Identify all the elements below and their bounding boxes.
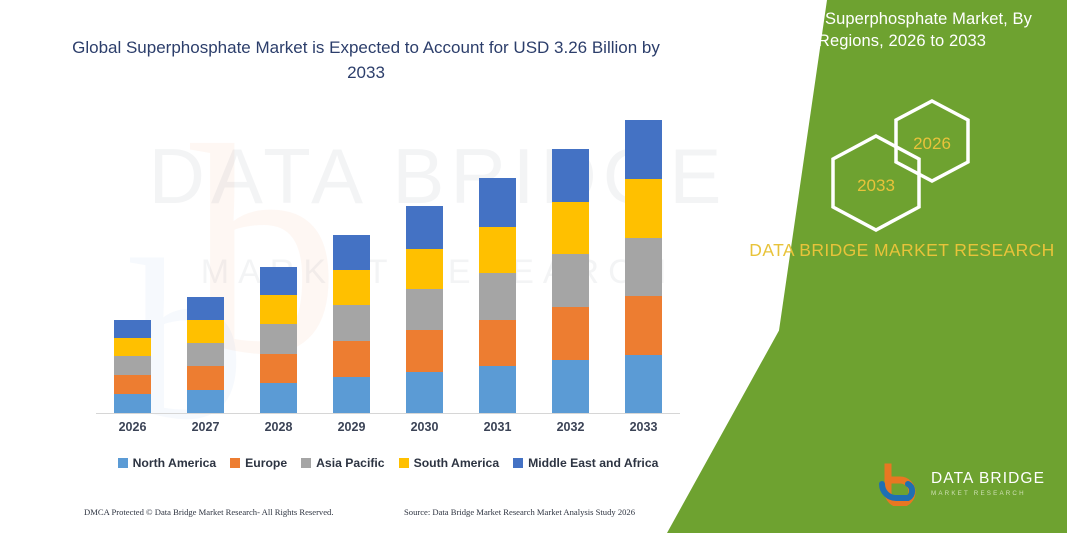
bar-slot — [461, 120, 534, 413]
bar-segment[interactable] — [114, 338, 151, 356]
legend-item[interactable]: Europe — [230, 456, 287, 470]
x-axis-tick: 2028 — [242, 420, 315, 434]
bar-slot — [607, 120, 680, 413]
footer-source: Source: Data Bridge Market Research Mark… — [404, 507, 684, 517]
footer: DMCA Protected © Data Bridge Market Rese… — [84, 507, 684, 517]
bar-segment[interactable] — [625, 238, 662, 296]
legend-swatch-icon — [301, 458, 311, 468]
bar-segment[interactable] — [260, 383, 297, 413]
bar-segment[interactable] — [187, 390, 224, 413]
stacked-bar[interactable] — [625, 120, 662, 413]
legend-swatch-icon — [118, 458, 128, 468]
bar-segment[interactable] — [479, 273, 516, 320]
bar-segment[interactable] — [552, 149, 589, 202]
bar-segment[interactable] — [187, 320, 224, 342]
x-axis-tick: 2027 — [169, 420, 242, 434]
bar-segment[interactable] — [260, 295, 297, 324]
legend-swatch-icon — [230, 458, 240, 468]
bar-segment[interactable] — [333, 377, 370, 413]
data-bridge-logo-icon — [878, 462, 922, 506]
bar-segment[interactable] — [479, 178, 516, 227]
stacked-bar[interactable] — [479, 178, 516, 413]
bar-segment[interactable] — [625, 179, 662, 237]
x-axis-tick: 2031 — [461, 420, 534, 434]
bar-segment[interactable] — [552, 202, 589, 254]
bar-segment[interactable] — [260, 324, 297, 354]
bar-segment[interactable] — [333, 341, 370, 377]
legend-label: South America — [414, 456, 500, 470]
page-title: Global Superphosphate Market is Expected… — [52, 36, 680, 85]
x-axis-tick: 2030 — [388, 420, 461, 434]
footer-copyright: DMCA Protected © Data Bridge Market Rese… — [84, 507, 404, 517]
bar-segment[interactable] — [406, 372, 443, 413]
x-axis-tick: 2033 — [607, 420, 680, 434]
stacked-bar[interactable] — [333, 235, 370, 413]
bar-segment[interactable] — [406, 206, 443, 248]
bar-segment[interactable] — [552, 360, 589, 413]
hexagon-start-year: 2026 — [893, 98, 971, 189]
legend-item[interactable]: Middle East and Africa — [513, 456, 658, 470]
legend-swatch-icon — [513, 458, 523, 468]
bar-group — [96, 120, 680, 413]
bar-slot — [315, 120, 388, 413]
right-green-panel — [667, 0, 1067, 533]
bar-segment[interactable] — [260, 267, 297, 296]
bar-segment[interactable] — [625, 355, 662, 413]
bar-segment[interactable] — [187, 366, 224, 389]
stacked-bar[interactable] — [260, 267, 297, 413]
bar-segment[interactable] — [406, 330, 443, 371]
x-axis-tick: 2032 — [534, 420, 607, 434]
bar-segment[interactable] — [479, 366, 516, 413]
bar-segment[interactable] — [187, 297, 224, 320]
bar-segment[interactable] — [625, 296, 662, 354]
brand-logo: DATA BRIDGE MARKET RESEARCH — [878, 462, 1045, 506]
bar-segment[interactable] — [552, 307, 589, 360]
legend-label: Asia Pacific — [316, 456, 384, 470]
legend-label: Middle East and Africa — [528, 456, 658, 470]
bar-slot — [388, 120, 461, 413]
bar-slot — [534, 120, 607, 413]
bar-segment[interactable] — [479, 320, 516, 367]
legend-label: Europe — [245, 456, 287, 470]
legend-label: North America — [133, 456, 217, 470]
infographic-canvas: b b DATA BRIDGE MARKET RESEARCH Global S… — [0, 0, 1067, 533]
hexagon-start-year-label: 2026 — [893, 134, 971, 154]
bar-slot — [169, 120, 242, 413]
bar-segment[interactable] — [333, 270, 370, 305]
bar-slot — [96, 120, 169, 413]
bar-segment[interactable] — [114, 394, 151, 413]
panel-brand-name: DATA BRIDGE MARKET RESEARCH — [737, 238, 1067, 263]
chart-legend: North AmericaEuropeAsia PacificSouth Ame… — [96, 456, 680, 470]
chart-baseline — [96, 413, 680, 414]
bar-segment[interactable] — [187, 343, 224, 366]
x-axis-tick: 2029 — [315, 420, 388, 434]
bar-segment[interactable] — [114, 320, 151, 338]
logo-subtitle: MARKET RESEARCH — [931, 491, 1045, 497]
x-axis-labels: 20262027202820292030203120322033 — [96, 420, 680, 434]
stacked-bar[interactable] — [406, 206, 443, 413]
bar-segment[interactable] — [625, 120, 662, 179]
bar-segment[interactable] — [114, 375, 151, 394]
bar-segment[interactable] — [260, 354, 297, 384]
bar-slot — [242, 120, 315, 413]
logo-text-block: DATA BRIDGE MARKET RESEARCH — [931, 471, 1045, 496]
bar-segment[interactable] — [406, 249, 443, 289]
bar-segment[interactable] — [479, 227, 516, 273]
panel-title: Global Superphosphate Market, By Regions… — [737, 8, 1067, 53]
legend-item[interactable]: Asia Pacific — [301, 456, 384, 470]
bar-segment[interactable] — [406, 289, 443, 330]
legend-item[interactable]: North America — [118, 456, 217, 470]
stacked-bar[interactable] — [114, 320, 151, 413]
logo-name: DATA BRIDGE — [931, 471, 1045, 487]
bar-segment[interactable] — [333, 305, 370, 341]
legend-swatch-icon — [399, 458, 409, 468]
legend-item[interactable]: South America — [399, 456, 500, 470]
x-axis-tick: 2026 — [96, 420, 169, 434]
chart-plot-area — [96, 120, 680, 414]
bar-segment[interactable] — [114, 356, 151, 375]
bar-segment[interactable] — [333, 235, 370, 270]
bar-segment[interactable] — [552, 254, 589, 307]
stacked-bar[interactable] — [552, 149, 589, 413]
stacked-bar[interactable] — [187, 297, 224, 413]
